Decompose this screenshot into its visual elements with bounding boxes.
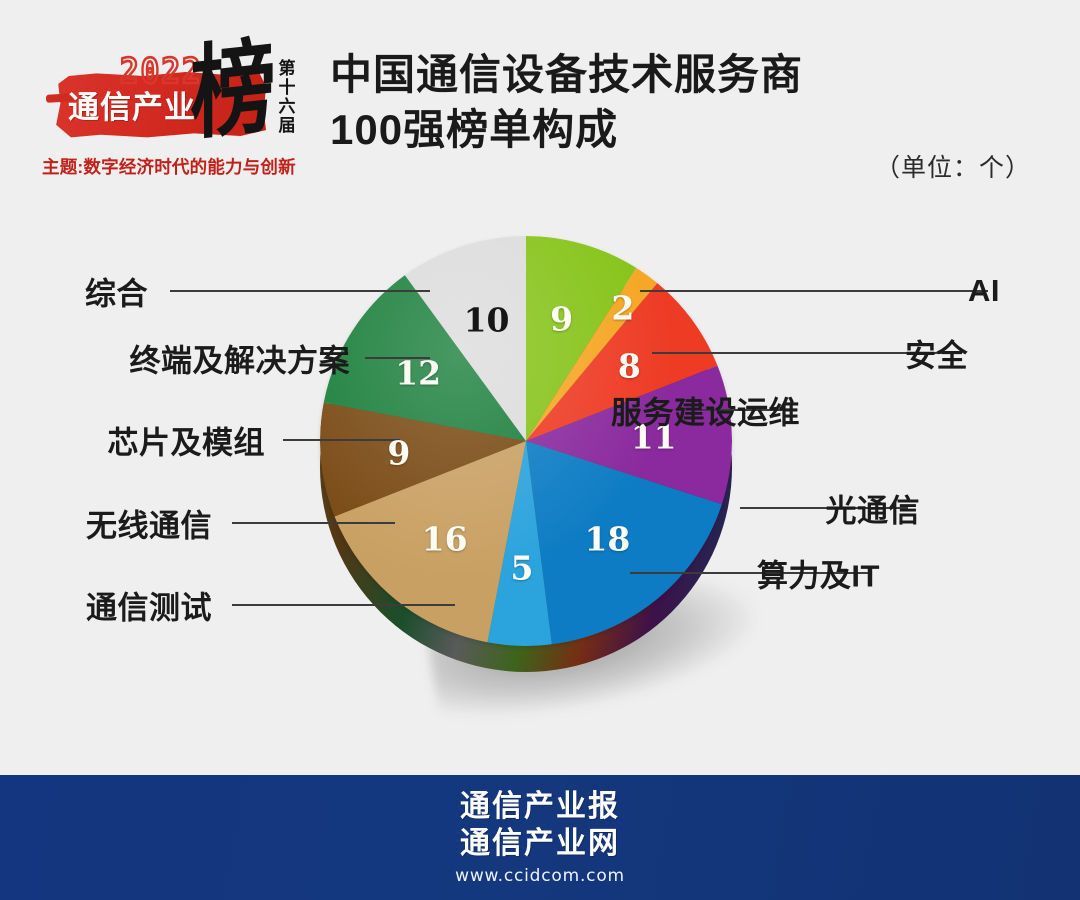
- page-title: 中国通信设备技术服务商 100强榜单构成: [330, 48, 970, 157]
- footer-brand-website: 通信产业网: [460, 826, 620, 863]
- infographic-canvas: 2022 通信产业 榜 第十六届 主题:数字经济时代的能力与创新 中国通信设备技…: [0, 0, 1080, 900]
- leader-line: [232, 604, 455, 606]
- pie-label-安全: 安全: [0, 331, 968, 376]
- pie-label-AI: AI: [0, 273, 1000, 309]
- page-title-line1: 中国通信设备技术服务商: [330, 48, 970, 103]
- footer-brand-paper: 通信产业报: [460, 789, 620, 826]
- footer-banner: 通信产业报 通信产业网 www.ccidcom.com: [0, 775, 1080, 900]
- leader-line: [283, 439, 400, 441]
- page-title-line2: 100强榜单构成: [330, 103, 970, 158]
- pie-label-算力及IT: 算力及IT: [0, 551, 880, 596]
- pie-label-光通信: 光通信: [0, 486, 920, 531]
- event-logo: 2022 通信产业 榜 第十六届 主题:数字经济时代的能力与创新: [42, 46, 314, 186]
- unit-note: （单位：个）: [875, 148, 1031, 184]
- pie-slice-value: 9: [387, 433, 410, 472]
- pie-label-服务建设运维: 服务建设运维: [0, 388, 800, 433]
- footer-url: www.ccidcom.com: [455, 866, 625, 886]
- logo-calligraphy: 榜: [190, 35, 276, 146]
- logo-main-text: 通信产业: [68, 82, 196, 127]
- logo-subtitle: 主题:数字经济时代的能力与创新: [42, 154, 314, 179]
- logo-ordinal: 第十六届: [274, 60, 300, 136]
